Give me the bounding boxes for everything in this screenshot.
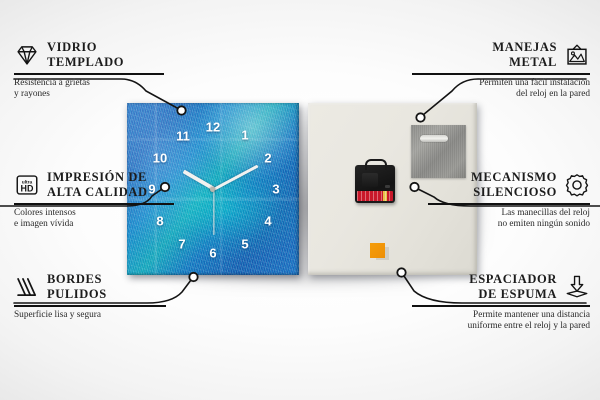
feature-header: ultra HD IMPRESIÓN DE ALTA CALIDAD [14, 170, 174, 199]
feature-subtitle: Resistencia a grietas y rayones [14, 78, 164, 101]
infographic-canvas: 12 1 2 3 4 5 6 7 8 9 10 11 [0, 0, 600, 400]
polished-edges-icon [14, 274, 40, 300]
feature-rule [412, 305, 590, 307]
picture-hanger-icon [564, 42, 590, 68]
feature-header: VIDRIO TEMPLADO [14, 40, 164, 69]
feature-manejas-metal[interactable]: MANEJAS METAL Permiten una fácil instala… [412, 40, 590, 101]
feature-title: IMPRESIÓN DE ALTA CALIDAD [47, 170, 148, 199]
leader-endpoint-mecanismo [410, 183, 418, 191]
feature-rule [428, 203, 590, 205]
feature-rule [14, 73, 164, 75]
feature-header: ESPACIADOR DE ESPUMA [412, 272, 590, 301]
svg-text:HD: HD [21, 183, 34, 193]
ultra-hd-icon: ultra HD [14, 172, 40, 198]
leader-endpoint-espaciador [397, 268, 405, 276]
feature-bordes-pulidos[interactable]: BORDES PULIDOS Superficie lisa y segura [14, 272, 166, 321]
leader-endpoint-vidrio [177, 106, 185, 114]
feature-mecanismo-silencioso[interactable]: MECANISMO SILENCIOSO Las manecillas del … [428, 170, 590, 231]
feature-title: ESPACIADOR DE ESPUMA [469, 272, 557, 301]
feature-title: BORDES PULIDOS [47, 272, 107, 301]
gear-icon [564, 172, 590, 198]
feature-espaciador-de-espuma[interactable]: ESPACIADOR DE ESPUMA Permite mantener un… [412, 272, 590, 333]
feature-subtitle: Permite mantener una distancia uniforme … [412, 310, 590, 333]
feature-title: VIDRIO TEMPLADO [47, 40, 124, 69]
feature-header: MECANISMO SILENCIOSO [428, 170, 590, 199]
leader-endpoint-manejas [416, 113, 424, 121]
feature-rule [14, 203, 174, 205]
feature-rule [14, 305, 166, 307]
feature-rule [412, 73, 590, 75]
feature-subtitle: Permiten una fácil instalación del reloj… [412, 78, 590, 101]
feature-header: BORDES PULIDOS [14, 272, 166, 301]
feature-subtitle: Las manecillas del reloj no emiten ningú… [428, 208, 590, 231]
feature-vidrio-templado[interactable]: VIDRIO TEMPLADO Resistencia a grietas y … [14, 40, 164, 101]
feature-title: MECANISMO SILENCIOSO [471, 170, 557, 199]
feature-impresion-alta-calidad[interactable]: ultra HD IMPRESIÓN DE ALTA CALIDAD Color… [14, 170, 174, 231]
feature-subtitle: Superficie lisa y segura [14, 310, 166, 322]
feature-title: MANEJAS METAL [492, 40, 557, 69]
leader-endpoint-bordes [189, 273, 197, 281]
feature-subtitle: Colores intensos e imagen vívida [14, 208, 174, 231]
feature-header: MANEJAS METAL [412, 40, 590, 69]
foam-spacer-icon [564, 274, 590, 300]
diamond-icon [14, 42, 40, 68]
